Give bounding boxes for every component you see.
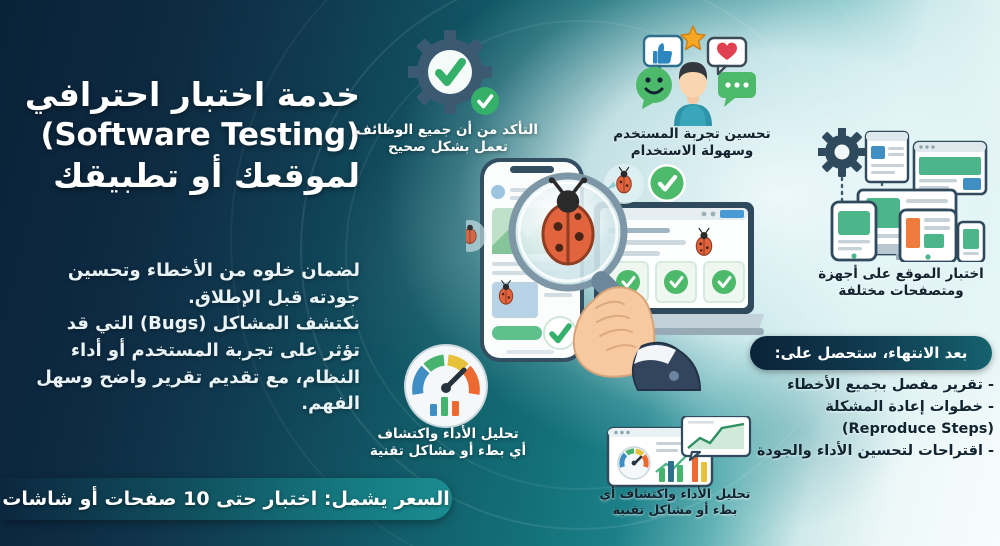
body-copy: لضمان خلوه من الأخطاء وتحسين جودته قبل ا… xyxy=(30,258,360,418)
deliverables-heading: بعد الانتهاء، ستحصل على: xyxy=(750,336,992,370)
line-chart-popup xyxy=(682,416,750,460)
deliverables-list: - تقرير مفصل بجميع الأخطاء - خطوات إعادة… xyxy=(748,374,994,462)
body-paragraph-2: نكتشف المشاكل (Bugs) التي قد تؤثر على تج… xyxy=(30,311,360,418)
feature-caption-devices: اختبار الموقع على أجهزة ومتصفحات مختلفة xyxy=(808,266,994,301)
browser-window-large xyxy=(914,142,986,194)
star-icon xyxy=(681,26,705,50)
person-avatar-icon xyxy=(674,62,712,126)
caption-line-1: اختبار الموقع على أجهزة xyxy=(808,266,994,283)
feature-caption-functional: التأكد من أن جميع الوظائف تعمل بشكل صحيح xyxy=(358,122,538,157)
list-item: - تقرير مفصل بجميع الأخطاء xyxy=(748,374,994,396)
analytics-icon xyxy=(604,416,758,490)
browser-window-small xyxy=(866,132,908,182)
caption-line-2: أي بطء أو مشاكل تقنية xyxy=(360,443,536,460)
feature-caption-ux: تحسين تجربة المستخدم وسهولة الاستخدام xyxy=(592,126,792,161)
tablet-device xyxy=(900,210,956,262)
devices-icon xyxy=(818,128,992,262)
caption-line-1: التأكد من أن جميع الوظائف xyxy=(358,122,538,139)
page-title: خدمة اختبار احترافي (Software Testing) ل… xyxy=(30,74,360,196)
feature-caption-performance-left: تحليل الأداء واكتشاف أي بطء أو مشاكل تقن… xyxy=(360,426,536,461)
list-item: - خطوات إعادة المشكلة xyxy=(748,396,994,418)
caption-line-2: ومتصفحات مختلفة xyxy=(808,283,994,300)
checkmark-icon xyxy=(648,164,686,202)
deliverables-heading-text: بعد الانتهاء، ستحصل على: xyxy=(775,344,968,362)
caption-line-1: تحليل الأداء واكتشاف xyxy=(360,426,536,443)
caption-line-2: بطء أو مشاكل تقنية xyxy=(586,502,764,518)
infographic-canvas: خدمة اختبار احترافي (Software Testing) ل… xyxy=(0,0,1000,546)
user-feedback-icon xyxy=(622,22,764,126)
gear-icon xyxy=(818,128,867,177)
headline-line-3: لموقعك أو تطبيقك xyxy=(30,155,360,197)
price-banner: السعر يشمل: اختبار حتى 10 صفحات أو شاشات xyxy=(0,478,452,520)
headline-line-2: (Software Testing) xyxy=(30,116,360,155)
headline-line-1: خدمة اختبار احترافي xyxy=(30,74,360,116)
caption-line-1: تحسين تجربة المستخدم xyxy=(592,126,792,143)
caption-line-1: تحليل الأداء واكتشاف أي xyxy=(586,486,764,502)
gear-check-icon xyxy=(404,28,508,124)
hero-illustration xyxy=(466,150,766,394)
heart-icon xyxy=(708,38,746,74)
price-banner-text: السعر يشمل: اختبار حتى 10 صفحات أو شاشات xyxy=(2,488,450,510)
smiley-icon xyxy=(636,67,672,109)
feature-caption-performance-bottom: تحليل الأداء واكتشاف أي بطء أو مشاكل تقن… xyxy=(586,486,764,518)
caption-line-2: تعمل بشكل صحيح xyxy=(358,139,538,156)
body-paragraph-1: لضمان خلوه من الأخطاء وتحسين جودته قبل ا… xyxy=(30,258,360,311)
list-item: - اقتراحات لتحسين الأداء والجودة xyxy=(748,440,994,462)
caption-line-2: وسهولة الاستخدام xyxy=(592,143,792,160)
smartphone-left xyxy=(832,202,876,260)
list-item: (Reproduce Steps) xyxy=(748,418,994,440)
chat-dots-icon xyxy=(718,72,756,107)
checkmark-icon xyxy=(544,317,576,349)
smartphone-small xyxy=(958,222,984,262)
